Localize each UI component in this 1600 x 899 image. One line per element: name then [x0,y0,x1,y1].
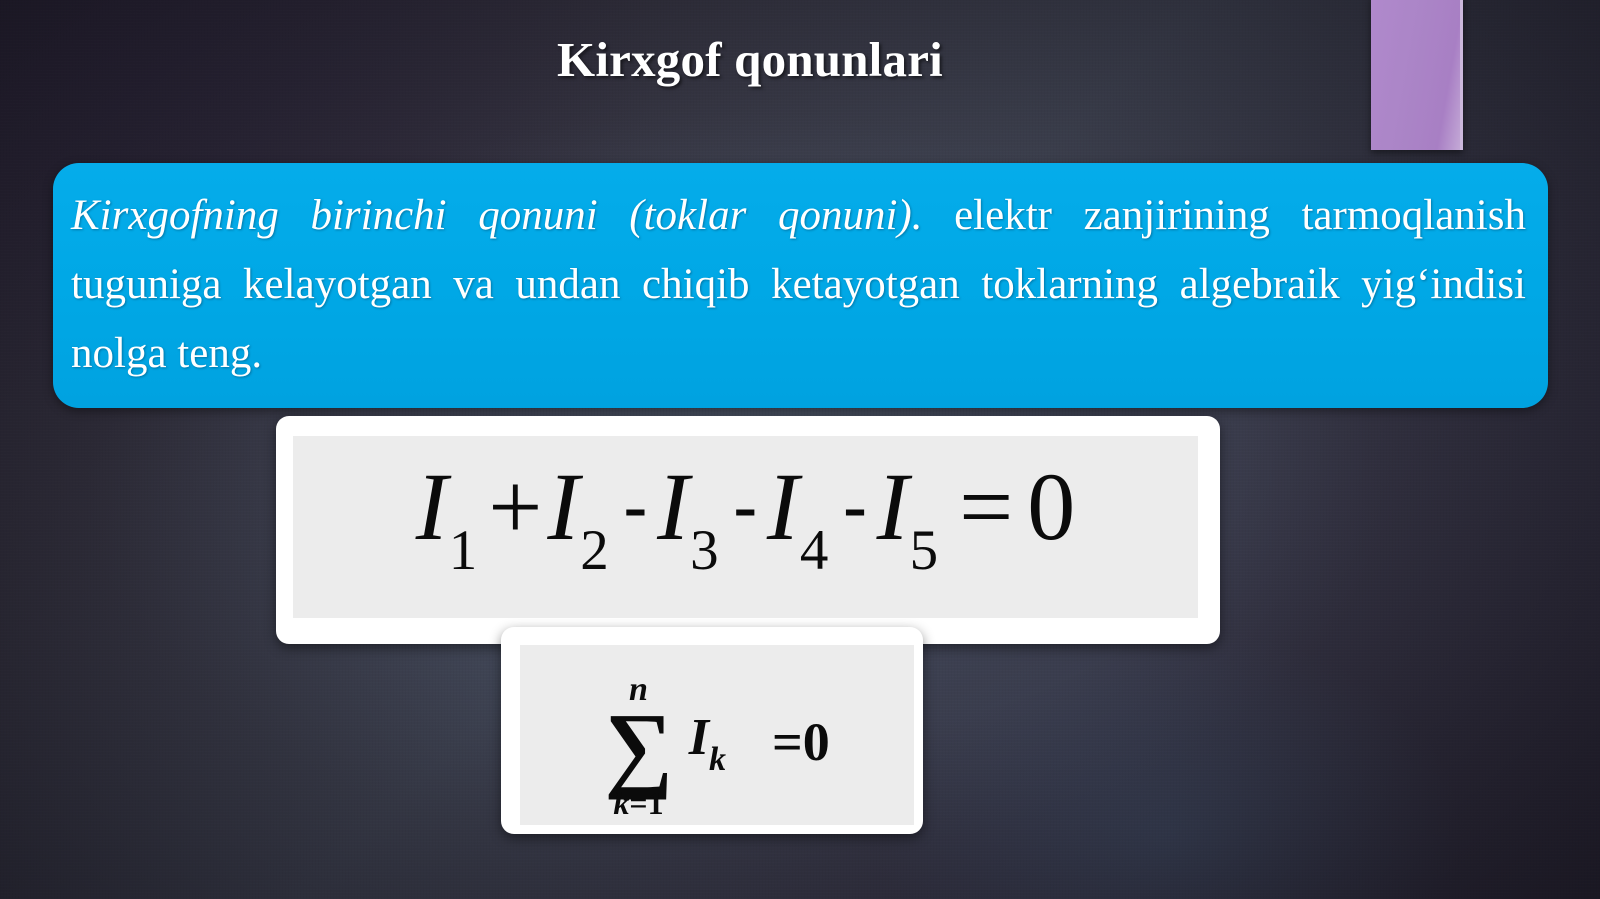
term-3-sub: 3 [690,519,719,582]
statement-text: Kirxgofning birinchi qonuni (toklar qonu… [71,181,1526,388]
term-5-var: I [877,453,909,560]
summation-lower-eq: =1 [629,785,663,821]
summation-result: 0 [803,712,830,772]
term-1-sub: 1 [449,519,478,582]
term-4-sub: 4 [800,519,829,582]
summation-lower-limit: k=1 [613,787,663,819]
term-5-sub: 5 [910,519,939,582]
formula-expression-kcl: I1+I2-I3-I4-I5=0 [293,459,1198,579]
operator-equals: = [959,453,1013,560]
formula-inner-panel: I1+I2-I3-I4-I5=0 [293,436,1198,618]
term-2-sub: 2 [580,519,609,582]
formula-card-summation: n ∑ k=1 Ik =0 [501,627,923,834]
formula-inner-panel-sum: n ∑ k=1 Ik =0 [520,645,914,825]
summation-body: Ik [689,708,726,779]
summation-equals-zero: =0 [772,711,830,773]
sigma-icon: ∑ [604,705,672,789]
summation-equals: = [772,712,803,772]
statement-emphasis: Kirxgofning birinchi qonuni (toklar qonu… [71,192,922,239]
term-1-var: I [416,453,448,560]
operator-minus-1: - [624,468,647,545]
summation-operator-group: n ∑ k=1 [604,673,672,819]
slide-canvas: Kirxgof qonunlari Kirxgofning birinchi q… [0,0,1600,899]
statement-callout-box: Kirxgofning birinchi qonuni (toklar qonu… [53,163,1548,408]
operator-minus-3: - [843,468,866,545]
formula-expression-summation: n ∑ k=1 Ik =0 [520,673,914,819]
operator-plus: + [488,453,542,560]
term-3-var: I [657,453,689,560]
summation-body-sub: k [709,741,726,778]
term-4-var: I [767,453,799,560]
formula-result: 0 [1027,453,1075,560]
term-2-var: I [547,453,579,560]
summation-body-var: I [689,709,709,766]
formula-card-kcl: I1+I2-I3-I4-I5=0 [276,416,1220,644]
page-title: Kirxgof qonunlari [0,31,1500,88]
summation-lower-var: k [613,785,629,821]
operator-minus-2: - [734,468,757,545]
